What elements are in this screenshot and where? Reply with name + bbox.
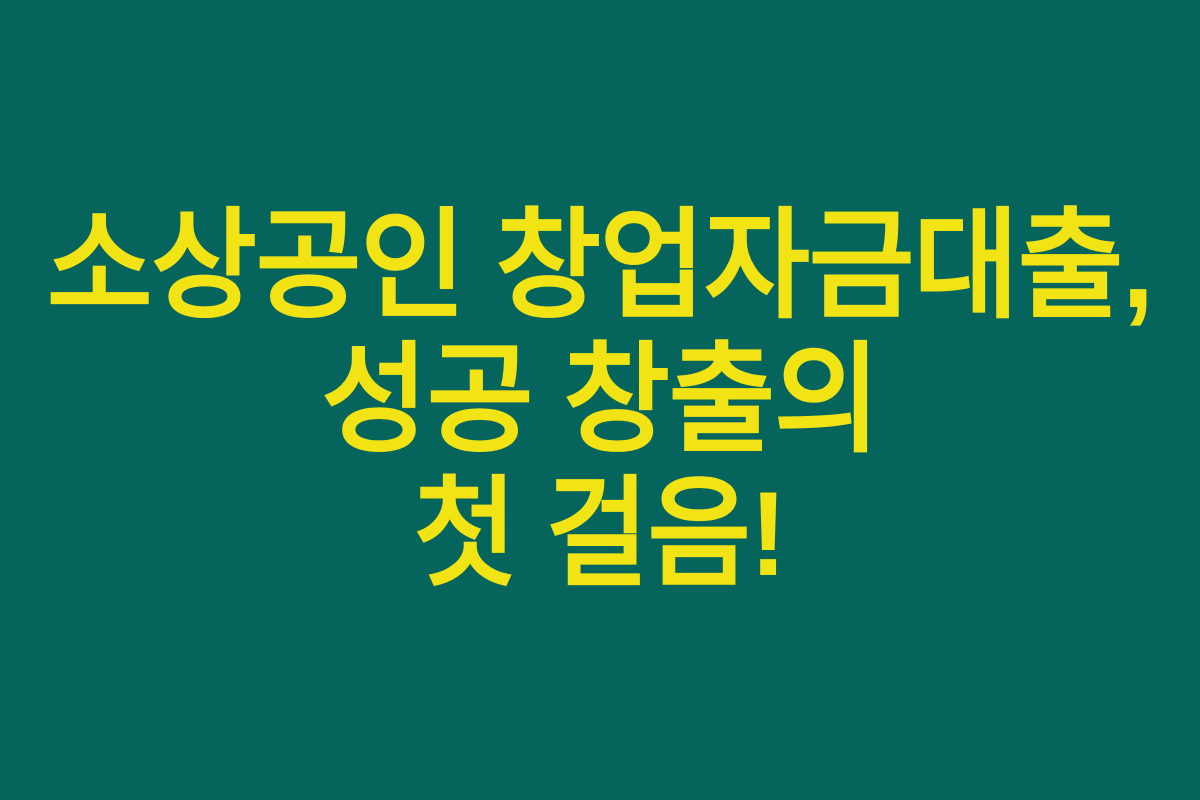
headline-line-2: 성공 창출의 <box>321 340 879 460</box>
headline-block: 소상공인 창업자금대출, 성공 창출의 첫 걸음! <box>0 0 1200 800</box>
headline-line-1: 소상공인 창업자금대출, <box>47 206 1153 326</box>
headline-line-3: 첫 걸음! <box>414 474 786 594</box>
promo-banner: 소상공인 창업자금대출, 성공 창출의 첫 걸음! <box>0 0 1200 800</box>
